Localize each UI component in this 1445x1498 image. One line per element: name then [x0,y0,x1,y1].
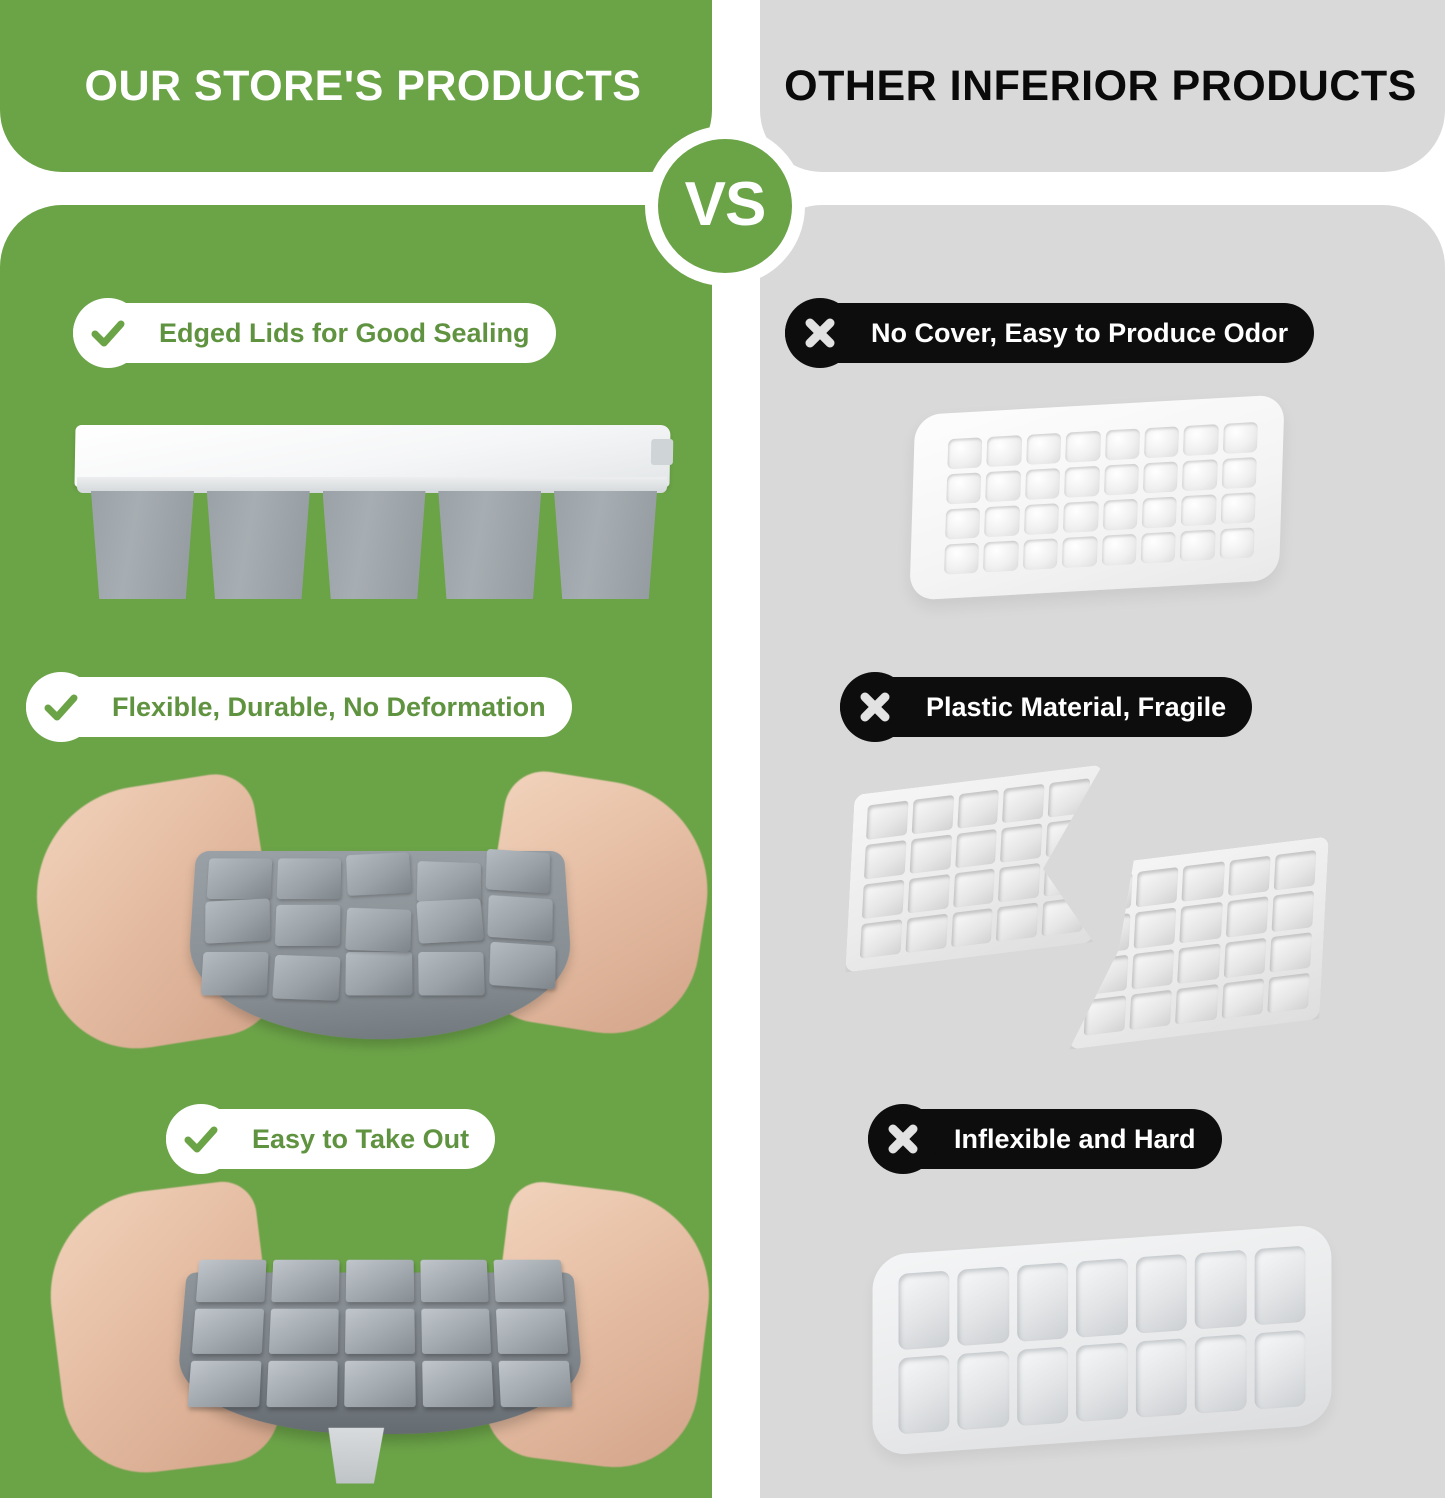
tray-cavity [911,795,953,834]
tray-cavity [866,800,908,839]
tray-cavity [1228,856,1271,897]
tray-cavity [1180,902,1223,943]
tray-cavity [1065,431,1100,463]
check-icon [166,1104,236,1174]
tray-cavity [953,868,995,907]
tray-cavity-grid [944,422,1258,575]
tray-cavity [1267,972,1310,1013]
tray-cavity [554,491,657,599]
tray-cavity [898,1355,949,1435]
ice-cube [416,898,484,943]
tray-cavity [1223,422,1258,454]
tray-cavity [1130,989,1173,1030]
ice-cube [416,861,480,904]
tray-cube-grid [187,1260,572,1407]
ice-cube [345,1309,415,1354]
feature-label: Plastic Material, Fragile [926,694,1226,721]
check-icon [26,672,96,742]
ice-cube [487,895,553,941]
ice-cube [422,1360,494,1407]
tray-cavity [905,914,947,953]
ice-cube [420,1260,489,1303]
tray-cavity [1090,873,1133,914]
tray-cavity [957,789,999,828]
header-panel-bad: OTHER INFERIOR PRODUCTS [760,0,1445,172]
ice-cube [346,1260,414,1303]
ice-cube [187,1360,261,1407]
tray-cavity [1088,913,1131,954]
tray-pull-tab [327,1428,384,1484]
feature-badge-good-1: Edged Lids for Good Sealing [73,298,556,368]
tray-cavity [1144,426,1179,458]
tray-cavity [951,908,993,947]
tray-cavity [1269,932,1312,973]
tray-cavity [438,491,541,599]
tray-cavity [907,874,949,913]
page-title-bad: OTHER INFERIOR PRODUCTS [784,65,1421,108]
tray-cavity [1136,867,1179,908]
tray-cavity [864,840,906,879]
tray-cavity [1274,850,1317,891]
tray-cavity [1024,503,1059,535]
tray-cavity [1182,861,1225,902]
ice-cube [268,1309,338,1354]
feature-label: Inflexible and Hard [954,1126,1196,1153]
feature-badge-bad-3: Inflexible and Hard [868,1104,1222,1174]
tray-cavity [1026,433,1061,465]
ice-cube [196,1260,266,1303]
feature-label: Edged Lids for Good Sealing [159,320,530,347]
tray-cavity [955,829,997,868]
page-title-good: OUR STORE'S PRODUCTS [71,65,642,108]
tray-cavity [1086,954,1129,995]
tray-cavity [1221,978,1264,1019]
tray-cavity [984,505,1019,537]
tray-cavity [987,435,1022,467]
tray-cavity [1181,494,1216,526]
product-image-cracked-plastic-tray [845,775,1345,1050]
feature-badge-bad-2: Plastic Material, Fragile [840,672,1252,742]
tray-cavity [1180,529,1215,561]
ice-cube [271,1260,340,1303]
cross-icon [785,298,855,368]
ice-cube [344,1360,415,1407]
tray-cavity [1102,499,1137,531]
tray-cavity [1000,823,1042,862]
tray-cavity [958,1351,1009,1431]
tray-cavity [1219,527,1254,559]
silicone-tray [173,1272,587,1434]
tray-cavity [323,491,426,599]
feature-badge-good-3: Easy to Take Out [166,1104,495,1174]
tray-cavity [986,470,1021,502]
tray-cavity [1046,818,1088,857]
tray-cavity [944,543,979,575]
tray-cavity [1042,897,1084,936]
tray-cavity [1063,501,1098,533]
tray-cavity [1141,532,1176,564]
tray-cavity [1195,1250,1246,1330]
lid-notch [651,439,673,465]
tray-cavity [909,834,951,873]
feature-label: No Cover, Easy to Produce Odor [871,320,1288,347]
cracked-tray-half-right [1069,836,1329,1049]
tray-cavity [1178,943,1221,984]
tray-cavity [1254,1330,1305,1410]
product-image-uncovered-white-tray [909,394,1284,600]
tray-cavity [207,491,310,599]
ice-cube [346,852,412,895]
tray-cavity [1025,468,1060,500]
ice-cube [494,1260,564,1303]
ice-cube [346,907,412,951]
tray-cavity [1254,1246,1305,1326]
tray-cavity [1002,784,1044,823]
ice-cube [205,898,270,943]
tray-cavity [1076,1342,1127,1422]
tray-cavity [1044,857,1086,896]
tray-cavity [1220,492,1255,524]
tray-cavity [1105,428,1140,460]
tray-cavity [1136,1254,1187,1334]
ice-cube [207,858,273,898]
tray-cavity [998,863,1040,902]
tray-cavity [1271,891,1314,932]
vs-badge: VS [645,126,805,286]
header-panel-good: OUR STORE'S PRODUCTS [0,0,712,172]
tray-cavity [996,902,1038,941]
tray-cavity [1084,995,1127,1036]
cross-icon [868,1104,938,1174]
tray-cavity [1048,778,1090,817]
tray-cavity [1182,459,1217,491]
tray-cavity [1134,908,1177,949]
tray-cavity [1101,534,1136,566]
tray-cavity-row [91,491,657,603]
tray-cavity [1226,896,1269,937]
tray-cavity [945,508,980,540]
tray-cavity [898,1270,949,1350]
tray-cavity [1175,984,1218,1025]
ice-cube [485,849,550,893]
ice-cube [499,1360,573,1407]
tray-cavity [983,540,1018,572]
tray-cavity [1023,538,1058,570]
product-image-classic-ice-cube-tray [873,1224,1332,1457]
feature-pill: Edged Lids for Good Sealing [73,303,556,363]
cross-icon [840,672,910,742]
ice-cube [496,1309,568,1354]
feature-badge-good-2: Flexible, Durable, No Deformation [26,672,572,742]
comparison-infographic: OUR STORE'S PRODUCTS OTHER INFERIOR PROD… [0,0,1445,1498]
tray-cavity [1142,497,1177,529]
tray-cavity [1143,461,1178,493]
feature-badge-bad-1: No Cover, Easy to Produce Odor [785,298,1314,368]
check-icon [73,298,143,368]
tray-cavity [1062,536,1097,568]
feature-pill: Flexible, Durable, No Deformation [26,677,572,737]
tray-cavity [946,472,981,504]
tray-cube-grid [201,858,558,995]
tray-cavity [862,880,904,919]
tray-cavity [860,919,902,958]
ice-cube [192,1309,264,1354]
tray-cavity [1136,1338,1187,1418]
tray-cavity [1195,1334,1246,1414]
tray-cavity [91,491,194,599]
ice-cube [277,858,342,898]
vs-badge-label: VS [685,174,766,236]
tray-cavity [1064,466,1099,498]
tray-cavity-grid [860,778,1090,958]
tray-cavity-grid [1084,850,1317,1036]
tray-cavity [1017,1262,1068,1342]
ice-cube [266,1360,338,1407]
feature-label: Easy to Take Out [252,1126,469,1153]
feature-label: Flexible, Durable, No Deformation [112,694,546,721]
ice-cube [418,952,485,995]
ice-cube [275,905,341,947]
ice-cube [272,955,341,1001]
tray-cavity [1017,1346,1068,1426]
tray-cavity [1183,424,1218,456]
cracked-tray-half-left [845,765,1102,973]
tray-cavity [1221,457,1256,489]
tray-cavity [958,1266,1009,1346]
tray-cavity [1104,464,1139,496]
tray-cavity [947,437,982,469]
ice-cube [489,942,556,989]
product-image-hands-flexing-tray [40,775,705,1075]
tray-cavity-grid [898,1246,1305,1435]
product-image-hands-removing-cubes [55,1190,705,1498]
ice-cube [346,952,412,995]
ice-cube [421,1309,491,1354]
tray-cavity [1076,1258,1127,1338]
tray-cavity [1132,949,1175,990]
feature-pill: No Cover, Easy to Produce Odor [785,303,1314,363]
product-image-lidded-silicone-tray [75,425,670,605]
ice-cube [201,952,269,995]
tray-cavity [1223,937,1266,978]
